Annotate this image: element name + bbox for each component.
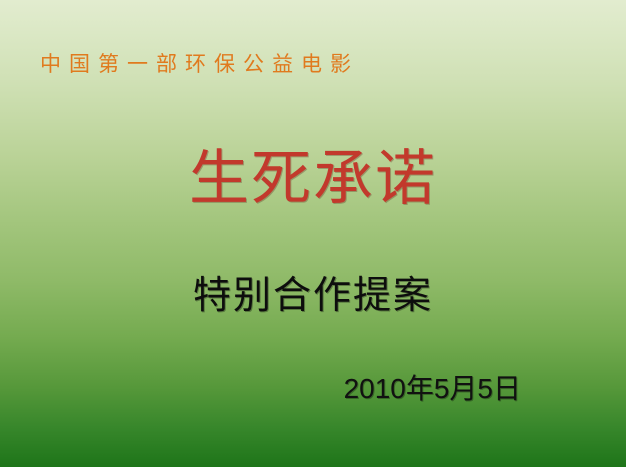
slide-date: 2010年5月5日 <box>344 372 521 406</box>
slide-main-title: 生死承诺 <box>0 143 626 215</box>
slide-kicker-text: 中国第一部环保公益电影 <box>40 51 359 77</box>
slide-subtitle: 特别合作提案 <box>0 272 626 320</box>
presentation-title-slide: 中国第一部环保公益电影 生死承诺 特别合作提案 2010年5月5日 <box>0 0 626 467</box>
